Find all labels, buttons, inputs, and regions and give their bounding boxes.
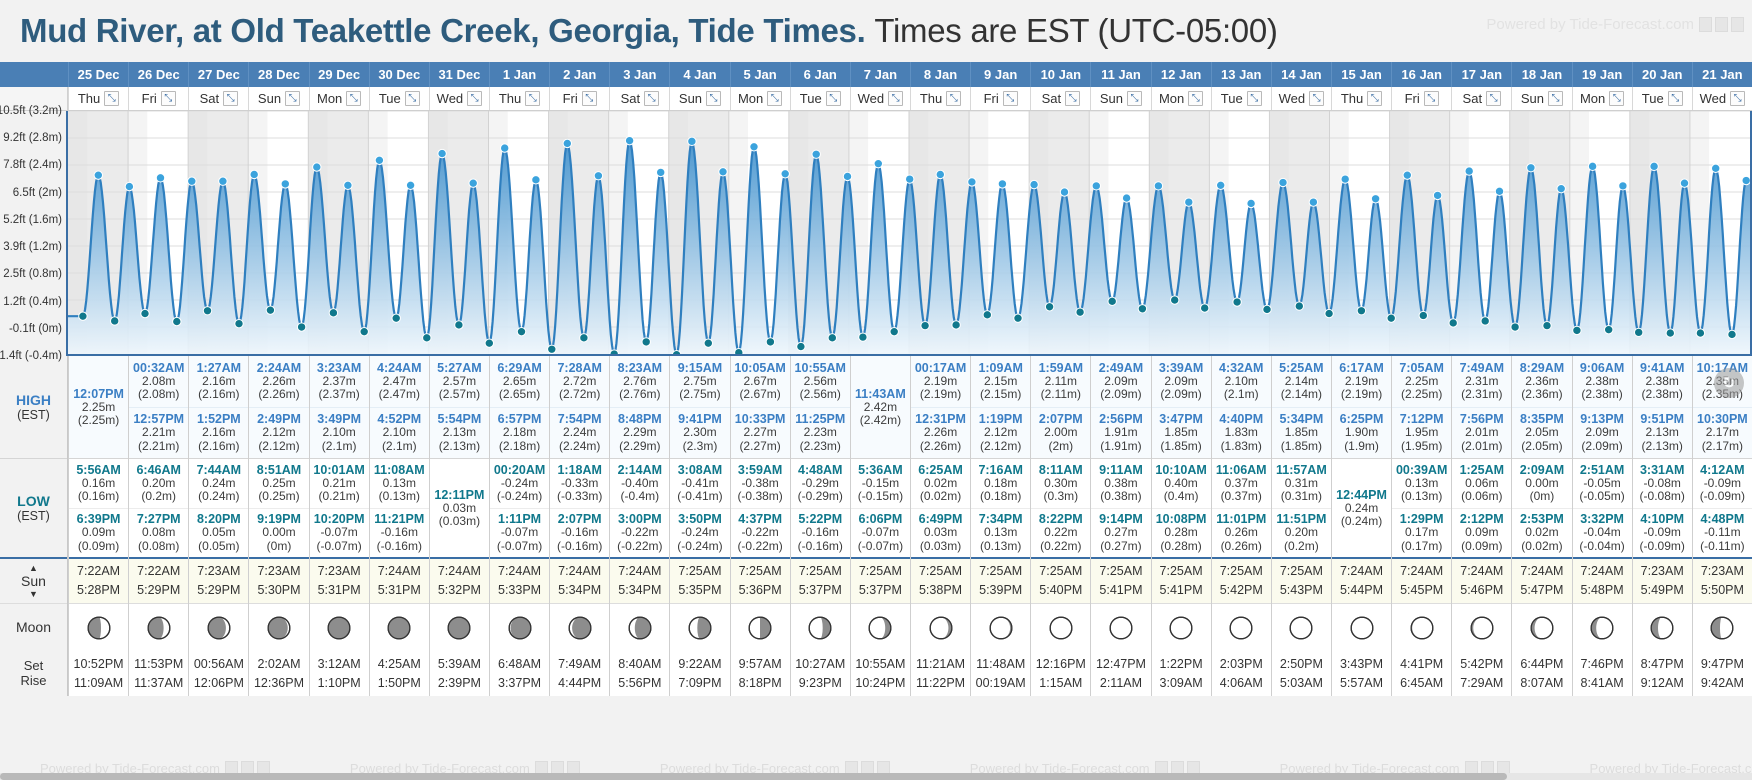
day-header-cell[interactable]: Fri⤡ — [549, 87, 609, 110]
high-tide-height-alt: (2.09m) — [1100, 388, 1141, 401]
day-header-cell[interactable]: Thu⤡ — [910, 87, 970, 110]
low-tide-time: 5:22PM — [798, 512, 842, 526]
moonset-time: 4:25AM — [378, 655, 421, 674]
high-tide-time: 10:30PM — [1697, 412, 1748, 426]
moonset-time: 3:12AM — [318, 655, 361, 674]
high-tide-height: 2.67m — [743, 375, 776, 388]
low-tide-height: -0.15m — [862, 477, 899, 490]
low-tide-entry: 10:08PM0.28m(0.28m) — [1152, 508, 1211, 558]
low-tide-entry: 2:51AM-0.05m(-0.05m) — [1573, 459, 1632, 508]
horizontal-scrollbar[interactable] — [0, 773, 1752, 780]
high-tide-cell: 10:55AM2.56m(2.56m)11:25PM2.23m(2.23m) — [791, 356, 850, 459]
low-tide-height: -0.05m — [1583, 477, 1620, 490]
high-tide-cell: 8:29AM2.36m(2.36m)8:35PM2.05m(2.05m) — [1512, 356, 1571, 459]
low-tide-entry: 7:34PM0.13m(0.13m) — [971, 508, 1030, 558]
tide-day-column: 5:27AM2.57m(2.57m)5:54PM2.13m(2.13m)12:1… — [429, 356, 489, 696]
moon-phase-cell — [1392, 604, 1451, 651]
moonrise-time: 8:07AM — [1520, 674, 1563, 693]
moon-set-rise-cell: 3:12AM1:10PM — [310, 651, 369, 696]
low-tide-entry: 6:25AM0.02m(0.02m) — [911, 459, 970, 508]
high-tide-time: 3:49PM — [317, 412, 361, 426]
expand-icon[interactable]: ⤡ — [1247, 91, 1262, 106]
sunset-time: 5:30PM — [257, 581, 300, 600]
moonset-time: 8:47PM — [1641, 655, 1684, 674]
low-tide-time: 5:56AM — [76, 463, 120, 477]
high-tide-height-alt: (2.1m) — [382, 440, 417, 453]
day-header-cell[interactable]: Mon⤡ — [1151, 87, 1211, 110]
tide-day-column: 10:55AM2.56m(2.56m)11:25PM2.23m(2.23m)4:… — [790, 356, 850, 696]
expand-icon[interactable]: ⤡ — [467, 91, 482, 106]
low-tide-entry: 4:10PM-0.09m(-0.09m) — [1633, 508, 1692, 558]
expand-icon[interactable]: ⤡ — [888, 91, 903, 106]
high-tide-height: 2.47m — [383, 375, 416, 388]
high-tide-height-alt: (1.9m) — [1344, 440, 1379, 453]
moonrise-time: 1:50PM — [378, 674, 421, 693]
low-tide-entry: 00:20AM-0.24m(-0.24m) — [490, 459, 549, 508]
low-tide-entry: 1:29PM0.17m(0.17m) — [1392, 508, 1451, 558]
low-tide-height-alt: (0.02m) — [1521, 540, 1562, 553]
expand-icon[interactable]: ⤡ — [1668, 91, 1683, 106]
expand-icon[interactable]: ⤡ — [1486, 91, 1501, 106]
low-tide-entry: 12:44PM0.24m(0.24m) — [1332, 459, 1391, 557]
high-tide-entry: 1:19PM2.12m(2.12m) — [971, 407, 1030, 459]
high-tide-entry: 5:34PM1.85m(1.85m) — [1272, 407, 1331, 459]
expand-icon[interactable]: ⤡ — [1424, 91, 1439, 106]
powered-by-header: Powered by Tide-Forecast.com — [1486, 16, 1744, 33]
expand-icon[interactable]: ⤡ — [767, 91, 782, 106]
low-tide-time: 11:01PM — [1216, 512, 1266, 526]
high-tide-time: 4:24AM — [377, 361, 421, 375]
moon-set-rise-cell: 9:47PM9:42AM — [1693, 651, 1752, 696]
expand-icon[interactable]: ⤡ — [1309, 91, 1324, 106]
day-header-label: Fri — [142, 91, 157, 106]
low-tide-time: 3:00PM — [618, 512, 662, 526]
expand-icon[interactable]: ⤡ — [405, 91, 420, 106]
high-tide-time: 5:34PM — [1279, 412, 1323, 426]
high-tide-height-alt: (2.1m) — [1224, 388, 1259, 401]
day-header-cell[interactable]: Sun⤡ — [1511, 87, 1571, 110]
day-header-label: Sun — [1100, 91, 1123, 106]
scrollbar-thumb[interactable] — [0, 773, 1507, 780]
sunrise-time: 7:22AM — [77, 562, 120, 581]
sun-times-cell: 7:22AM5:29PM — [129, 559, 188, 604]
high-tide-height: 2.10m — [1225, 375, 1258, 388]
high-tide-height: 2.12m — [984, 426, 1017, 439]
day-header-label: Sun — [258, 91, 281, 106]
high-tide-entry: 2:49PM2.12m(2.12m) — [249, 407, 308, 459]
day-header-cell[interactable]: Sun⤡ — [248, 87, 308, 110]
tide-table-columns: 12:07PM2.25m(2.25m)5:56AM0.16m(0.16m)6:3… — [68, 356, 1752, 696]
expand-icon[interactable]: ⤡ — [161, 91, 176, 106]
high-tide-entry: 9:15AM2.75m(2.75m) — [670, 356, 729, 407]
moon-phase-icon — [446, 615, 472, 641]
high-tide-height-alt: (1.85m) — [1160, 440, 1201, 453]
day-header-cell[interactable]: Fri⤡ — [128, 87, 188, 110]
high-tide-time: 10:05AM — [734, 361, 785, 375]
low-tide-cell: 11:57AM0.31m(0.31m)11:51PM0.20m(0.2m) — [1272, 459, 1331, 559]
low-tide-cell: 7:16AM0.18m(0.18m)7:34PM0.13m(0.13m) — [971, 459, 1030, 559]
day-header-cell[interactable]: Thu⤡ — [1331, 87, 1391, 110]
moon-set-rise-cell: 12:16PM1:15AM — [1031, 651, 1090, 696]
sunrise-time: 7:24AM — [1400, 562, 1443, 581]
sun-times-cell: 7:24AM5:31PM — [370, 559, 429, 604]
day-header-cell[interactable]: Tue⤡ — [369, 87, 429, 110]
high-tide-time: 9:51PM — [1640, 412, 1684, 426]
low-tide-height-alt: (0.16m) — [78, 490, 119, 503]
expand-icon[interactable]: ⤡ — [1065, 91, 1080, 106]
low-tide-cell: 5:56AM0.16m(0.16m)6:39PM0.09m(0.09m) — [69, 459, 128, 559]
moon-phase-icon — [1349, 615, 1375, 641]
moon-phase-icon — [1709, 615, 1735, 641]
day-header-cell[interactable]: Wed⤡ — [1692, 87, 1752, 110]
day-header-cell[interactable]: Fri⤡ — [970, 87, 1030, 110]
moonrise-time: 8:18PM — [739, 674, 782, 693]
day-header-label: Sat — [621, 91, 641, 106]
moon-set-rise-cell: 12:47PM2:11AM — [1091, 651, 1150, 696]
expand-icon[interactable]: ⤡ — [582, 91, 597, 106]
high-tide-time: 3:47PM — [1159, 412, 1203, 426]
day-header-cell[interactable]: Sat⤡ — [609, 87, 669, 110]
low-tide-cell: 7:44AM0.24m(0.24m)8:20PM0.05m(0.05m) — [189, 459, 248, 559]
sun-times-cell: 7:23AM5:50PM — [1693, 559, 1752, 604]
low-tide-entry: 7:16AM0.18m(0.18m) — [971, 459, 1030, 508]
tide-table-row-labels: HIGH (EST) LOW (EST) Sun Moon Set Rise — [0, 356, 68, 696]
moonrise-time: 3:09AM — [1160, 674, 1203, 693]
moon-set-rise-cell: 11:53PM11:37AM — [129, 651, 188, 696]
moon-set-rise-cell: 10:55AM10:24PM — [851, 651, 910, 696]
low-tide-time: 11:57AM — [1276, 463, 1327, 477]
row-label-high-text: HIGH — [16, 392, 51, 408]
low-tide-entry: 5:36AM-0.15m(-0.15m) — [851, 459, 910, 508]
sunrise-time: 7:25AM — [1160, 562, 1203, 581]
high-tide-cell: 11:43AM2.42m(2.42m) — [851, 356, 910, 459]
expand-icon[interactable]: ⤡ — [644, 91, 659, 106]
expand-icon[interactable]: ⤡ — [1730, 91, 1745, 106]
sun-times-cell: 7:25AM5:36PM — [731, 559, 790, 604]
day-header-cell[interactable]: Mon⤡ — [309, 87, 369, 110]
high-tide-time: 2:49AM — [1099, 361, 1143, 375]
sunset-time: 5:44PM — [1340, 581, 1383, 600]
high-tide-time: 8:29AM — [1520, 361, 1564, 375]
day-header-cell[interactable]: Tue⤡ — [790, 87, 850, 110]
sunset-time: 5:41PM — [1099, 581, 1142, 600]
low-tide-height-alt: (0.21m) — [318, 490, 359, 503]
moon-set-rise-cell: 9:57AM8:18PM — [731, 651, 790, 696]
high-tide-height: 2.09m — [1104, 375, 1137, 388]
day-header-cell[interactable]: Fri⤡ — [1391, 87, 1451, 110]
high-tide-height: 2.26m — [924, 426, 957, 439]
day-header-cell[interactable]: Tue⤡ — [1211, 87, 1271, 110]
low-tide-time: 11:06AM — [1216, 463, 1267, 477]
day-header-cell[interactable]: Thu⤡ — [489, 87, 549, 110]
high-tide-entry: 2:24AM2.26m(2.26m) — [249, 356, 308, 407]
high-tide-entry: 7:12PM1.95m(1.95m) — [1392, 407, 1451, 459]
moonrise-time: 4:44PM — [558, 674, 601, 693]
row-label-rise-text: Rise — [20, 674, 46, 689]
sun-times-cell: 7:25AM5:39PM — [971, 559, 1030, 604]
date-header-cell: 7 Jan — [850, 62, 910, 87]
sun-times-cell: 7:23AM5:29PM — [189, 559, 248, 604]
high-tide-height: 2.10m — [322, 426, 355, 439]
expand-icon[interactable]: ⤡ — [346, 91, 361, 106]
high-tide-height: 2.25m — [1405, 375, 1438, 388]
high-tide-entry: 2:49AM2.09m(2.09m) — [1091, 356, 1150, 407]
day-header-label: Mon — [1580, 91, 1605, 106]
high-tide-cell: 9:06AM2.38m(2.38m)9:13PM2.09m(2.09m) — [1573, 356, 1632, 459]
high-tide-height-alt: (2m) — [1048, 440, 1073, 453]
tide-day-column: 5:25AM2.14m(2.14m)5:34PM1.85m(1.85m)11:5… — [1271, 356, 1331, 696]
low-tide-time: 7:44AM — [197, 463, 241, 477]
high-tide-time: 8:23AM — [618, 361, 662, 375]
moon-phase-icon — [1108, 615, 1134, 641]
moonrise-time: 9:23PM — [799, 674, 842, 693]
expand-icon[interactable]: ⤡ — [223, 91, 238, 106]
low-tide-time: 12:11PM — [434, 488, 484, 502]
sunset-arrow-icon — [29, 589, 38, 599]
expand-icon[interactable]: ⤡ — [946, 91, 961, 106]
expand-icon[interactable]: ⤡ — [1548, 91, 1563, 106]
day-header-label: Sun — [1521, 91, 1544, 106]
low-tide-entry: 11:08AM0.13m(0.13m) — [370, 459, 429, 508]
high-tide-entry: 7:56PM2.01m(2.01m) — [1452, 407, 1511, 459]
high-tide-time: 8:48PM — [618, 412, 662, 426]
expand-icon[interactable]: ⤡ — [1367, 91, 1382, 106]
day-header-label: Wed — [1700, 91, 1727, 106]
sunrise-time: 7:23AM — [257, 562, 300, 581]
moonset-time: 1:22PM — [1160, 655, 1203, 674]
low-tide-entry: 5:22PM-0.16m(-0.16m) — [791, 508, 850, 558]
high-tide-height-alt: (2.76m) — [619, 388, 660, 401]
expand-icon[interactable]: ⤡ — [285, 91, 300, 106]
day-header-cell[interactable]: Wed⤡ — [429, 87, 489, 110]
sunrise-time: 7:23AM — [1701, 562, 1744, 581]
high-tide-cell: 1:27AM2.16m(2.16m)1:52PM2.16m(2.16m) — [189, 356, 248, 459]
chart-y-axis: 10.5ft (3.2m)9.2ft (2.8m)7.8ft (2.4m)6.5… — [0, 111, 68, 356]
high-tide-entry: 7:28AM2.72m(2.72m) — [550, 356, 609, 407]
date-header-cell: 13 Jan — [1211, 62, 1271, 87]
moonset-time: 2:50PM — [1280, 655, 1323, 674]
low-tide-entry: 3:50PM-0.24m(-0.24m) — [670, 508, 729, 558]
sunrise-time: 7:25AM — [1280, 562, 1323, 581]
low-tide-height-alt: (-0.29m) — [798, 490, 843, 503]
tide-chart: 10.5ft (3.2m)9.2ft (2.8m)7.8ft (2.4m)6.5… — [0, 111, 1752, 356]
high-tide-cell: 00:32AM2.08m(2.08m)12:57PM2.21m(2.21m) — [129, 356, 188, 459]
date-header-cell: 31 Dec — [429, 62, 489, 87]
day-header-cell[interactable]: Wed⤡ — [1271, 87, 1331, 110]
moonset-time: 9:22AM — [678, 655, 721, 674]
sun-times-cell: 7:25AM5:40PM — [1031, 559, 1090, 604]
low-tide-cell: 2:51AM-0.05m(-0.05m)3:32PM-0.04m(-0.04m) — [1573, 459, 1632, 559]
moonset-time: 5:39AM — [438, 655, 481, 674]
moon-phase-cell — [1031, 604, 1090, 651]
day-header-cell[interactable]: Mon⤡ — [1572, 87, 1632, 110]
row-label-sun[interactable]: Sun — [0, 559, 67, 604]
high-tide-height-alt: (2.56m) — [800, 388, 841, 401]
expand-icon[interactable]: ⤡ — [1609, 91, 1624, 106]
chart-y-tick-label: 6.5ft (2m) — [13, 187, 62, 199]
high-tide-height-alt: (2.09m) — [1160, 388, 1201, 401]
sunset-time: 5:34PM — [558, 581, 601, 600]
high-tide-height-alt: (2.15m) — [980, 388, 1021, 401]
day-header-cell[interactable]: Mon⤡ — [730, 87, 790, 110]
high-tide-height-alt: (2.18m) — [499, 440, 540, 453]
low-tide-height: -0.41m — [681, 477, 718, 490]
low-tide-cell: 2:09AM0.00m(0m)2:53PM0.02m(0.02m) — [1512, 459, 1571, 559]
high-tide-cell: 6:17AM2.19m(2.19m)6:25PM1.90m(1.9m) — [1332, 356, 1391, 459]
low-tide-cell: 4:48AM-0.29m(-0.29m)5:22PM-0.16m(-0.16m) — [791, 459, 850, 559]
high-tide-time: 2:07PM — [1039, 412, 1083, 426]
low-tide-height: 0.38m — [1104, 477, 1137, 490]
low-tide-height: -0.07m — [501, 526, 538, 539]
low-tide-time: 2:09AM — [1520, 463, 1564, 477]
expand-icon[interactable]: ⤡ — [1188, 91, 1203, 106]
low-tide-time: 00:39AM — [1396, 463, 1447, 477]
low-tide-height: 0.13m — [984, 526, 1017, 539]
day-header-cell[interactable]: Sat⤡ — [1451, 87, 1511, 110]
high-tide-entry: 9:51PM2.13m(2.13m) — [1633, 407, 1692, 459]
date-header-row: 25 Dec26 Dec27 Dec28 Dec29 Dec30 Dec31 D… — [0, 62, 1752, 87]
sunset-time: 5:49PM — [1641, 581, 1684, 600]
low-tide-entry: 5:56AM0.16m(0.16m) — [69, 459, 128, 508]
expand-icon[interactable]: ⤡ — [1003, 91, 1018, 106]
day-header-cell[interactable]: Wed⤡ — [850, 87, 910, 110]
sun-times-cell: 7:25AM5:37PM — [791, 559, 850, 604]
moon-phase-icon — [1469, 615, 1495, 641]
date-header-cell: 17 Jan — [1451, 62, 1511, 87]
high-tide-height-alt: (2.67m) — [739, 388, 780, 401]
low-tide-height-alt: (-0.04m) — [1579, 540, 1624, 553]
low-tide-height-alt: (0.13m) — [379, 490, 420, 503]
sunrise-time: 7:25AM — [859, 562, 902, 581]
high-tide-time: 5:25AM — [1279, 361, 1323, 375]
expand-icon[interactable]: ⤡ — [1127, 91, 1142, 106]
high-tide-height: 1.83m — [1225, 426, 1258, 439]
moon-phase-icon — [326, 615, 352, 641]
moon-set-rise-cell: 5:42PM7:29AM — [1452, 651, 1511, 696]
sun-times-cell: 7:25AM5:38PM — [911, 559, 970, 604]
low-tide-entry: 8:11AM0.30m(0.3m) — [1031, 459, 1090, 508]
low-tide-height-alt: (0.2m) — [1284, 540, 1319, 553]
moon-phase-cell — [1693, 604, 1752, 651]
high-tide-cell: 1:59AM2.11m(2.11m)2:07PM2.00m(2m) — [1031, 356, 1090, 459]
low-tide-height: 0.31m — [1285, 477, 1318, 490]
day-header-cell[interactable]: Tue⤡ — [1632, 87, 1692, 110]
moon-set-rise-cell: 7:49AM4:44PM — [550, 651, 609, 696]
expand-icon[interactable]: ⤡ — [525, 91, 540, 106]
low-tide-time: 6:49PM — [919, 512, 963, 526]
low-tide-height-alt: (-0.16m) — [377, 540, 422, 553]
date-header-cell: 20 Jan — [1632, 62, 1692, 87]
low-tide-height-alt: (-0.09m) — [1700, 490, 1745, 503]
sunset-time: 5:39PM — [979, 581, 1022, 600]
day-header-label: Mon — [738, 91, 763, 106]
high-tide-time: 6:25PM — [1340, 412, 1384, 426]
date-header-cell: 18 Jan — [1511, 62, 1571, 87]
moon-phase-icon — [867, 615, 893, 641]
low-tide-entry: 1:25AM0.06m(0.06m) — [1452, 459, 1511, 508]
high-tide-height: 2.00m — [1044, 426, 1077, 439]
day-header-cell[interactable]: Sun⤡ — [1090, 87, 1150, 110]
day-header-cell[interactable]: Sat⤡ — [1030, 87, 1090, 110]
low-tide-height-alt: (0m) — [1530, 490, 1555, 503]
expand-icon[interactable]: ⤡ — [104, 91, 119, 106]
moon-phase-cell — [971, 604, 1030, 651]
tide-day-column: 00:32AM2.08m(2.08m)12:57PM2.21m(2.21m)6:… — [128, 356, 188, 696]
day-header-cell[interactable]: Thu⤡ — [68, 87, 128, 110]
high-tide-time: 9:41PM — [678, 412, 722, 426]
high-tide-entry: 7:49AM2.31m(2.31m) — [1452, 356, 1511, 407]
date-header-cell: 6 Jan — [790, 62, 850, 87]
expand-icon[interactable]: ⤡ — [706, 91, 721, 106]
high-tide-height-alt: (2.29m) — [619, 440, 660, 453]
tide-day-column: 4:32AM2.10m(2.1m)4:40PM1.83m(1.83m)11:06… — [1211, 356, 1271, 696]
moon-phase-icon — [1529, 615, 1555, 641]
moonrise-time: 11:22PM — [916, 674, 965, 693]
moonrise-time: 7:29AM — [1460, 674, 1503, 693]
high-tide-height: 2.31m — [1465, 375, 1498, 388]
low-tide-height: 0.02m — [1525, 526, 1558, 539]
high-tide-entry: 3:39AM2.09m(2.09m) — [1152, 356, 1211, 407]
moon-phase-cell — [911, 604, 970, 651]
day-header-cell[interactable]: Sun⤡ — [669, 87, 729, 110]
low-tide-cell: 2:14AM-0.40m(-0.4m)3:00PM-0.22m(-0.22m) — [610, 459, 669, 559]
high-tide-height-alt: (2.05m) — [1521, 440, 1562, 453]
high-tide-height: 2.17m — [1706, 426, 1739, 439]
high-tide-entry: 4:52PM2.10m(2.1m) — [370, 407, 429, 459]
powered-by-label: Powered by Tide-Forecast.com — [1486, 16, 1694, 33]
low-tide-height: 0.13m — [383, 477, 416, 490]
high-tide-height-alt: (2.38m) — [1642, 388, 1683, 401]
high-tide-time: 12:31PM — [915, 412, 966, 426]
moonset-time: 4:41PM — [1400, 655, 1443, 674]
sunrise-time: 7:24AM — [1340, 562, 1383, 581]
expand-icon[interactable]: ⤡ — [826, 91, 841, 106]
low-tide-entry: 2:14AM-0.40m(-0.4m) — [610, 459, 669, 508]
low-tide-height: -0.22m — [741, 526, 778, 539]
high-tide-height-alt: (2.75m) — [679, 388, 720, 401]
high-tide-entry: 2:56PM1.91m(1.91m) — [1091, 407, 1150, 459]
low-tide-height-alt: (0.09m) — [78, 540, 119, 553]
low-tide-entry: 7:44AM0.24m(0.24m) — [189, 459, 248, 508]
high-tide-height: 2.16m — [202, 375, 235, 388]
high-tide-height: 2.13m — [1646, 426, 1679, 439]
low-tide-time: 1:18AM — [557, 463, 601, 477]
moon-set-rise-cell: 10:52PM11:09AM — [69, 651, 128, 696]
low-tide-time: 6:39PM — [77, 512, 121, 526]
high-tide-time: 10:33PM — [735, 412, 786, 426]
low-tide-height-alt: (0.17m) — [1401, 540, 1442, 553]
moonset-time: 7:46PM — [1581, 655, 1624, 674]
moonset-time: 10:52PM — [74, 655, 124, 674]
page-title-timezone: Times are EST (UTC-05:00) — [874, 12, 1277, 49]
moon-phase-icon — [1288, 615, 1314, 641]
sun-times-cell: 7:24AM5:45PM — [1392, 559, 1451, 604]
high-tide-entry: 8:48PM2.29m(2.29m) — [610, 407, 669, 459]
low-tide-height-alt: (0.03m) — [439, 515, 480, 528]
high-tide-height-alt: (2.25m) — [1401, 388, 1442, 401]
moon-phase-icon — [988, 615, 1014, 641]
low-tide-cell: 1:18AM-0.33m(-0.33m)2:07PM-0.16m(-0.16m) — [550, 459, 609, 559]
moon-phase-icon — [86, 615, 112, 641]
low-tide-height: -0.09m — [1704, 477, 1741, 490]
high-tide-height-alt: (1.85m) — [1281, 440, 1322, 453]
day-header-cell[interactable]: Sat⤡ — [188, 87, 248, 110]
high-tide-height: 2.24m — [563, 426, 596, 439]
low-tide-entry: 6:46AM0.20m(0.2m) — [129, 459, 188, 508]
low-tide-entry: 3:08AM-0.41m(-0.41m) — [670, 459, 729, 508]
date-header-cell: 8 Jan — [910, 62, 970, 87]
high-tide-time: 4:40PM — [1219, 412, 1263, 426]
